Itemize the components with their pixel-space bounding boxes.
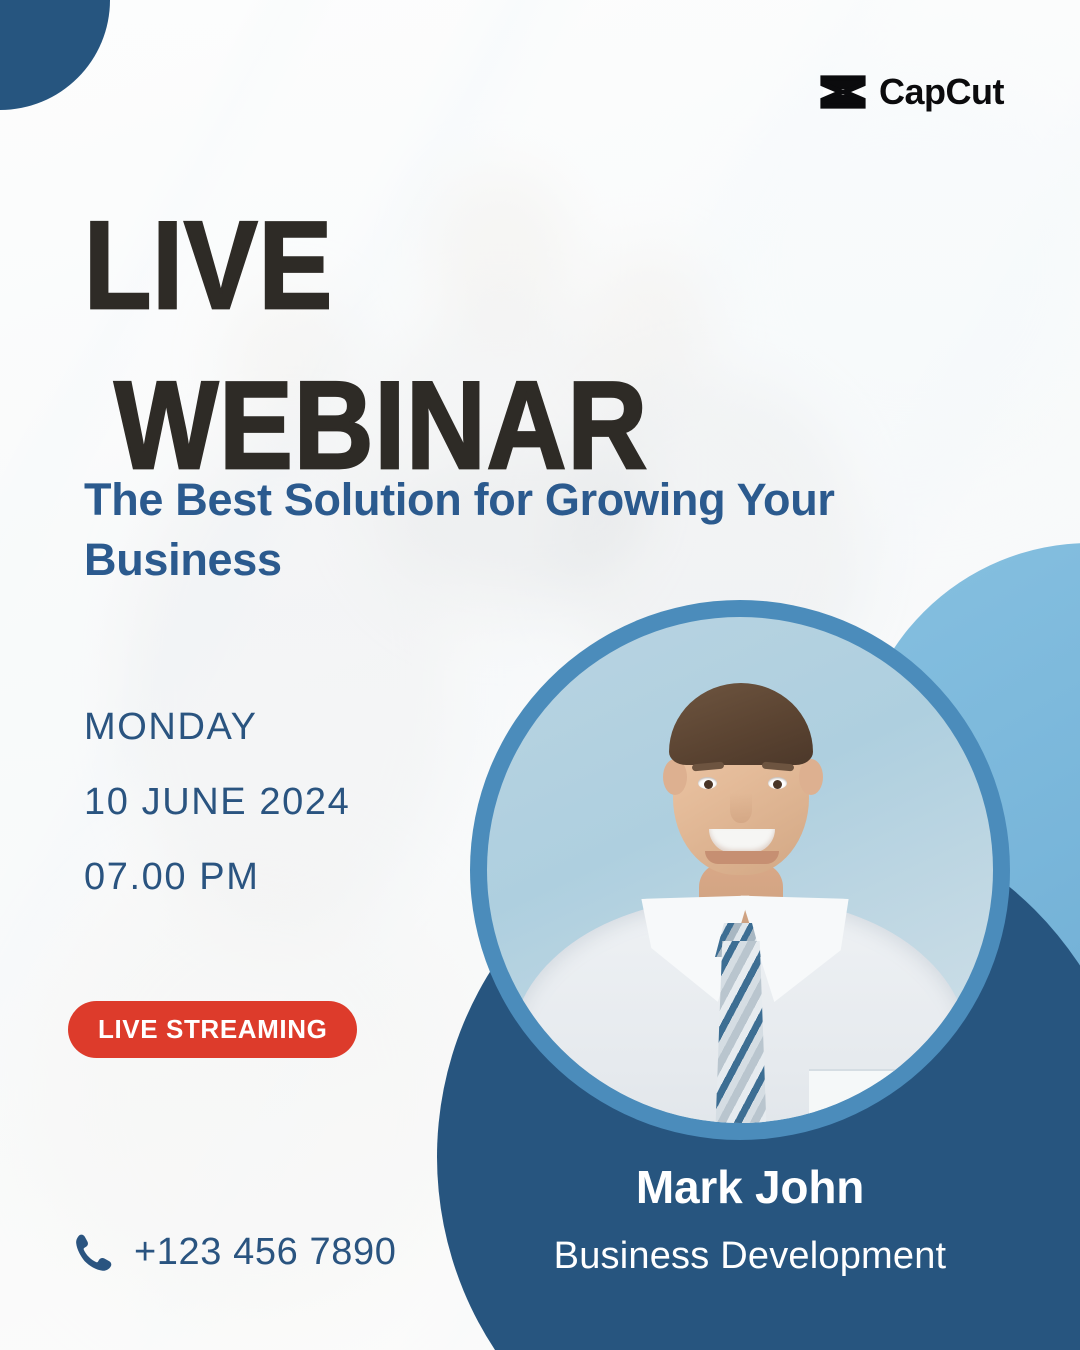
phone-number: +123 456 7890 (134, 1233, 396, 1271)
contact-phone-row[interactable]: +123 456 7890 (72, 1232, 396, 1272)
speaker-role: Business Development (466, 1237, 1034, 1275)
capcut-bowtie-icon (820, 75, 866, 109)
subtitle: The Best Solution for Growing Your Busin… (84, 470, 844, 591)
avatar (487, 617, 993, 1123)
portrait-nose (730, 793, 752, 823)
page-title: LIVE WEBINAR (84, 186, 754, 505)
event-datetime-block: MONDAY 10 JUNE 2024 07.00 PM (84, 708, 350, 896)
speaker-name: Mark John (466, 1164, 1034, 1210)
portrait-shirt-pocket (809, 1069, 917, 1123)
event-time: 07.00 PM (84, 858, 350, 896)
portrait-pupil-left (704, 780, 713, 789)
webinar-poster: CapCut LIVE WEBINAR The Best Solution fo… (0, 0, 1080, 1350)
phone-handset-icon (72, 1232, 112, 1272)
portrait-lower-lip (705, 851, 779, 864)
event-date: 10 JUNE 2024 (84, 783, 350, 821)
headline-line-1: LIVE (84, 186, 754, 345)
portrait-pupil-right (773, 780, 782, 789)
capcut-logo: CapCut (820, 74, 1004, 110)
event-day: MONDAY (84, 708, 350, 746)
speaker-avatar-ring (470, 600, 1010, 1140)
portrait-ear-right (799, 759, 823, 795)
live-streaming-badge[interactable]: LIVE STREAMING (68, 1001, 357, 1058)
portrait-tie (715, 941, 767, 1123)
speaker-caption: Mark John Business Development (466, 1164, 1034, 1275)
portrait-hair (669, 683, 813, 765)
logo-wordmark: CapCut (879, 74, 1004, 110)
